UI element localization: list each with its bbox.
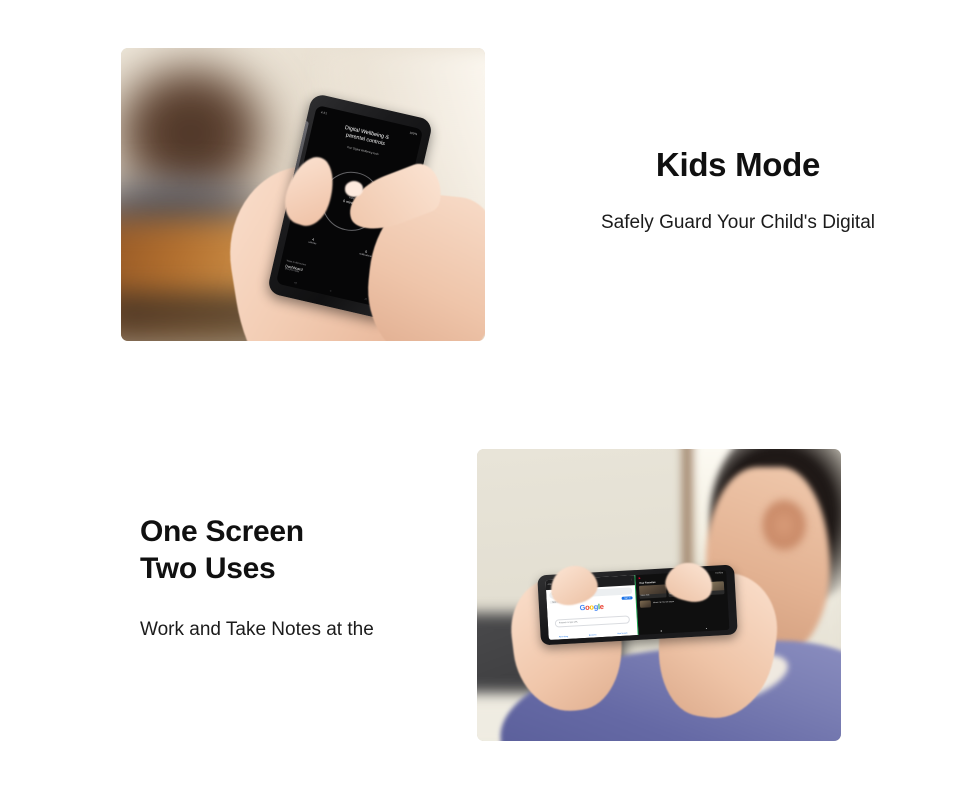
- split-screen-text-block: One Screen Two Uses Work and Take Notes …: [140, 513, 500, 643]
- video-nav-home-icon: ■: [660, 630, 662, 633]
- status-time: 4:21: [321, 110, 328, 115]
- video-list-title: Where Can You See Jaguar: [653, 601, 674, 604]
- kids-mode-image: 4:21 100% Digital Wellbeing & parental c…: [121, 48, 485, 341]
- link-advertising: Advertising: [559, 636, 568, 639]
- split-screen-headline: One Screen Two Uses: [140, 513, 500, 587]
- split-screen-subline: Work and Take Notes at the: [140, 618, 500, 643]
- browser-footer-links: Advertising Business How Search: [548, 632, 637, 639]
- play-button-icon: ▶: [639, 577, 641, 580]
- man-ear: [761, 496, 812, 554]
- link-business: Business: [589, 634, 597, 636]
- video-bottom-nav: ■ ●: [639, 626, 729, 634]
- browser-menu-icon: ⋮: [631, 579, 633, 581]
- split-screen-image: 4:30 ⋮ 🔒 google.com Search Images Sign i…: [477, 449, 841, 741]
- search-input: ⚲ Search or type URL: [555, 615, 630, 628]
- video-thumbnail: [640, 600, 651, 608]
- status-battery: 100%: [409, 130, 418, 136]
- stat-unlocks: 4 unlocks: [308, 237, 317, 246]
- link-how-search: How Search: [617, 633, 627, 636]
- product-feature-page: 4:21 100% Digital Wellbeing & parental c…: [0, 0, 960, 800]
- kids-mode-text-block: Kids Mode Safely Guard Your Child's Digi…: [548, 145, 928, 236]
- video-card: Nature Walk: [639, 584, 667, 598]
- kids-mode-subline: Safely Guard Your Child's Digital: [548, 211, 928, 236]
- kids-mode-headline: Kids Mode: [548, 145, 928, 186]
- fingernail: [345, 181, 363, 196]
- home-icon: ○: [330, 288, 333, 292]
- video-nav-shorts-icon: ●: [706, 627, 708, 630]
- back-icon: ◁: [294, 280, 297, 284]
- search-placeholder: Search or type URL: [560, 621, 578, 624]
- recents-icon: □: [365, 297, 368, 301]
